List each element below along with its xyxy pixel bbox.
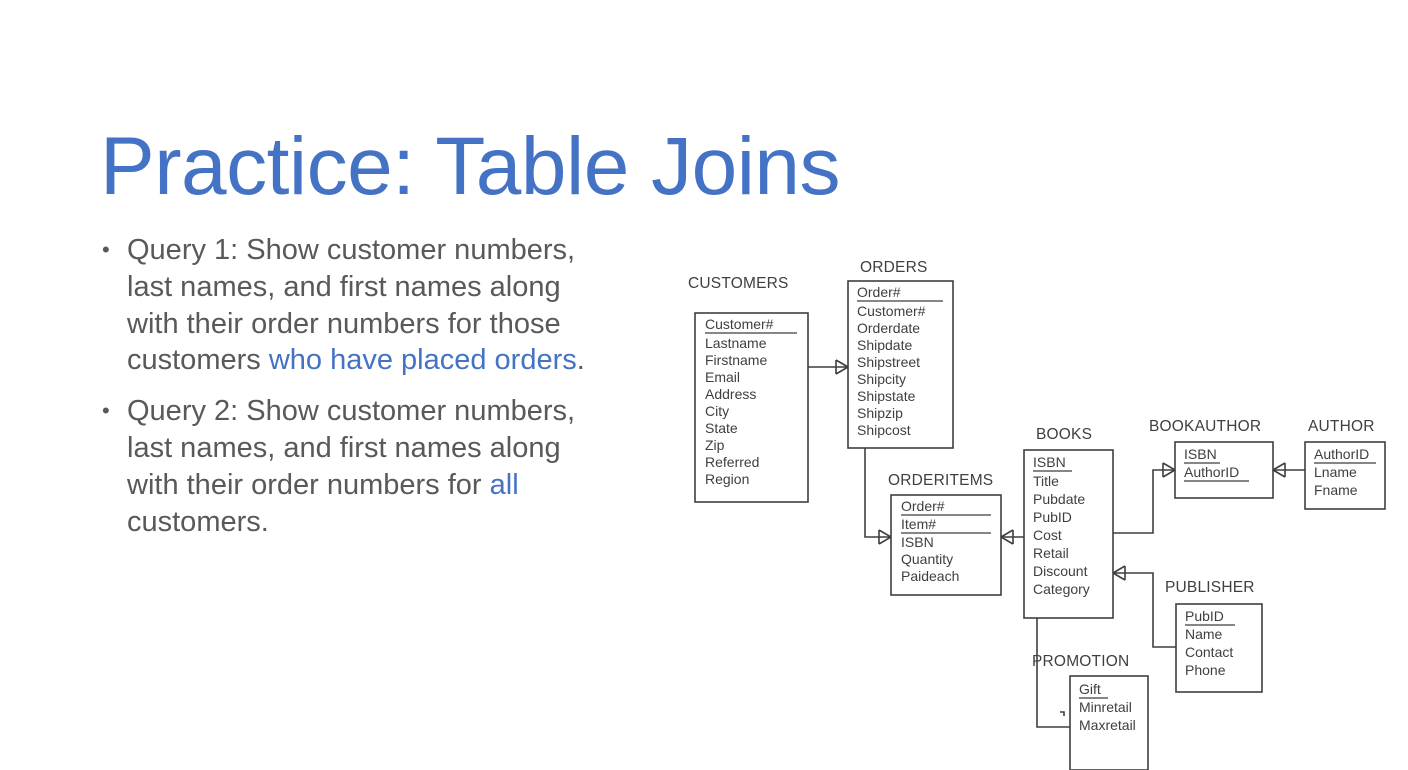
- attr-promotion-1: Minretail: [1079, 699, 1132, 715]
- attr-orderitems-0: Order#: [901, 498, 945, 514]
- attr-promotion-2: Maxretail: [1079, 717, 1136, 733]
- table-title-orders: ORDERS: [860, 259, 928, 276]
- attr-author-1: Lname: [1314, 464, 1357, 480]
- attr-customers-2: Firstname: [705, 352, 767, 368]
- bullet-segment-highlight: who have placed orders: [269, 344, 577, 376]
- er-diagram: CUSTOMERS Customer# Lastname Firstname E…: [660, 248, 1408, 770]
- attr-author-0: AuthorID: [1314, 446, 1369, 462]
- table-title-promotion: PROMOTION: [1032, 653, 1129, 670]
- list-item: • Query 2: Show customer numbers, last n…: [100, 393, 620, 540]
- bullet-text-query-2: Query 2: Show customer numbers, last nam…: [127, 393, 620, 540]
- table-title-bookauthor: BOOKAUTHOR: [1149, 418, 1261, 435]
- bullet-text-query-1: Query 1: Show customer numbers, last nam…: [127, 232, 620, 379]
- attr-orderitems-1: Item#: [901, 516, 936, 532]
- attr-customers-7: Zip: [705, 437, 725, 453]
- er-table-books: BOOKS ISBN Title Pubdate PubID Cost Reta…: [1024, 426, 1113, 618]
- bullet-marker: •: [102, 232, 110, 267]
- table-title-orderitems: ORDERITEMS: [888, 472, 993, 489]
- attr-books-5: Retail: [1033, 545, 1069, 561]
- attr-books-3: PubID: [1033, 509, 1072, 525]
- attr-customers-0: Customer#: [705, 316, 774, 332]
- relationship-books-bookauthor: [1113, 470, 1175, 533]
- attr-customers-3: Email: [705, 369, 740, 385]
- attr-orderitems-2: ISBN: [901, 534, 934, 550]
- attr-publisher-1: Name: [1185, 626, 1223, 642]
- relationship-books-promotion: [1037, 618, 1070, 727]
- er-diagram-canvas: CUSTOMERS Customer# Lastname Firstname E…: [660, 248, 1408, 770]
- attr-customers-6: State: [705, 420, 738, 436]
- er-table-bookauthor: BOOKAUTHOR ISBN AuthorID: [1149, 418, 1273, 498]
- attr-publisher-0: PubID: [1185, 608, 1224, 624]
- attr-orders-4: Shipstreet: [857, 354, 920, 370]
- list-item: • Query 1: Show customer numbers, last n…: [100, 232, 620, 379]
- table-title-publisher: PUBLISHER: [1165, 579, 1255, 596]
- er-table-promotion: PROMOTION Gift Minretail Maxretail: [1032, 653, 1148, 770]
- attr-customers-8: Referred: [705, 454, 759, 470]
- attr-books-1: Title: [1033, 473, 1059, 489]
- attr-author-2: Fname: [1314, 482, 1358, 498]
- attr-orderitems-3: Quantity: [901, 551, 953, 567]
- attr-publisher-3: Phone: [1185, 662, 1226, 678]
- attr-bookauthor-1: AuthorID: [1184, 464, 1239, 480]
- attr-customers-4: Address: [705, 386, 756, 402]
- er-table-author: AUTHOR AuthorID Lname Fname: [1305, 418, 1385, 509]
- attr-books-6: Discount: [1033, 563, 1088, 579]
- bullet-segment-highlight: all: [490, 469, 519, 501]
- bullet-marker: •: [102, 393, 110, 428]
- attr-customers-9: Region: [705, 471, 749, 487]
- relationship-orders-orderitems: [865, 448, 891, 537]
- attr-promotion-0: Gift: [1079, 681, 1101, 697]
- attr-orders-3: Shipdate: [857, 337, 912, 353]
- er-table-publisher: PUBLISHER PubID Name Contact Phone: [1165, 579, 1262, 692]
- attr-publisher-2: Contact: [1185, 644, 1233, 660]
- attr-customers-5: City: [705, 403, 729, 419]
- attr-books-0: ISBN: [1033, 454, 1066, 470]
- attr-books-4: Cost: [1033, 527, 1062, 543]
- table-title-customers: CUSTOMERS: [688, 275, 789, 292]
- er-table-orders: ORDERS Order# Customer# Orderdate Shipda…: [848, 259, 953, 448]
- attr-orders-2: Orderdate: [857, 320, 920, 336]
- table-title-books: BOOKS: [1036, 426, 1092, 443]
- table-title-author: AUTHOR: [1308, 418, 1375, 435]
- attr-orders-1: Customer#: [857, 303, 926, 319]
- attr-orders-5: Shipcity: [857, 371, 906, 387]
- er-table-customers: CUSTOMERS Customer# Lastname Firstname E…: [688, 275, 808, 502]
- page-title: Practice: Table Joins: [100, 126, 1000, 208]
- bullet-list: • Query 1: Show customer numbers, last n…: [100, 232, 620, 555]
- attr-bookauthor-0: ISBN: [1184, 446, 1217, 462]
- attr-orders-6: Shipstate: [857, 388, 916, 404]
- attr-books-7: Category: [1033, 581, 1090, 597]
- attr-orders-0: Order#: [857, 284, 901, 300]
- crowsfoot-promotion: [1060, 712, 1064, 716]
- slide-canvas: Practice: Table Joins • Query 1: Show cu…: [0, 0, 1408, 770]
- er-table-orderitems: ORDERITEMS Order# Item# ISBN Quantity Pa…: [888, 472, 1001, 595]
- attr-books-2: Pubdate: [1033, 491, 1085, 507]
- attr-orderitems-4: Paideach: [901, 568, 959, 584]
- attr-orders-7: Shipzip: [857, 405, 903, 421]
- bullet-segment-tail: customers.: [127, 506, 269, 538]
- attr-orders-8: Shipcost: [857, 422, 911, 438]
- attr-customers-1: Lastname: [705, 335, 767, 351]
- bullet-segment-tail: .: [577, 344, 585, 376]
